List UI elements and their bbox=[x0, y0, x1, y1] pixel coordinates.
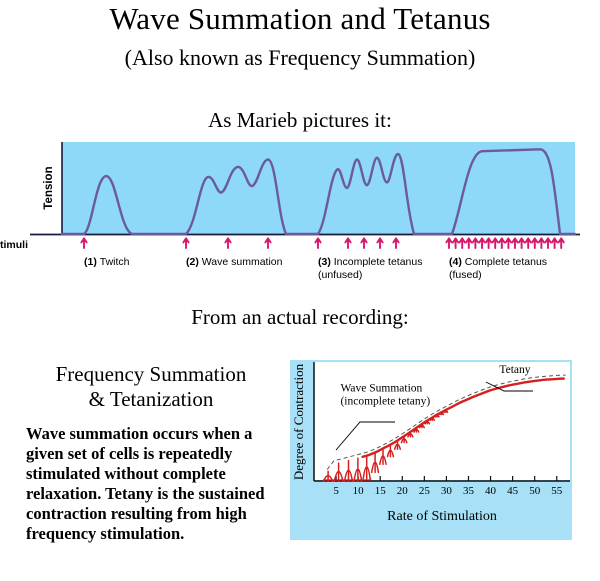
stimulus-arrow bbox=[526, 238, 531, 248]
frequency-summation-text-block: Frequency Summation & Tetanization Wave … bbox=[8, 362, 294, 544]
frequency-summation-title-line1: Frequency Summation bbox=[8, 362, 294, 387]
chart-y-axis-label: Degree of Contraction bbox=[291, 363, 306, 480]
marieb-panel-background bbox=[62, 142, 575, 234]
stimulus-arrow bbox=[393, 238, 398, 248]
marieb-phase-labels: (1) Twitch(2) Wave summation(3) Incomple… bbox=[84, 256, 547, 281]
stimulus-arrow bbox=[315, 238, 320, 248]
stimulus-arrow bbox=[512, 238, 517, 248]
x-tick-label: 55 bbox=[551, 485, 563, 497]
phase-label: (4) Complete tetanus bbox=[449, 256, 547, 268]
x-tick-label: 45 bbox=[507, 485, 519, 497]
marieb-y-axis-label: Tension bbox=[43, 166, 55, 209]
x-tick-label: 10 bbox=[353, 485, 365, 497]
stimulus-arrow bbox=[460, 238, 465, 248]
phase-label: (1) Twitch bbox=[84, 256, 130, 268]
stimulus-arrow bbox=[345, 238, 350, 248]
stimulus-arrow bbox=[552, 238, 557, 248]
annotation-tetany: Tetany bbox=[499, 364, 530, 376]
phase-sublabel: (fused) bbox=[449, 269, 482, 281]
stimulus-arrow bbox=[479, 238, 484, 248]
x-tick-label: 35 bbox=[463, 485, 475, 497]
x-tick-label: 5 bbox=[333, 485, 339, 497]
marieb-stimulus-arrows bbox=[81, 238, 563, 248]
stimulus-arrow bbox=[225, 238, 230, 248]
phase-label: (3) Incomplete tetanus bbox=[318, 256, 422, 268]
annotation-wave-summation: Wave Summation bbox=[340, 382, 422, 394]
stimulus-arrow bbox=[265, 238, 270, 248]
stimulus-arrow bbox=[446, 238, 451, 248]
stimulus-arrow bbox=[539, 238, 544, 248]
frequency-summation-title-line2: & Tetanization bbox=[8, 387, 294, 412]
section-heading-marieb: As Marieb pictures it: bbox=[0, 108, 600, 133]
stimulus-arrow bbox=[473, 238, 478, 248]
recording-chart: 510152025303540455055 Wave Summation(inc… bbox=[290, 360, 576, 542]
x-tick-label: 25 bbox=[419, 485, 431, 497]
page-subtitle: (Also known as Frequency Summation) bbox=[0, 46, 600, 70]
frequency-summation-body: Wave summation occurs when a given set o… bbox=[8, 424, 294, 545]
stimulus-arrow bbox=[493, 238, 498, 248]
chart-plot-area bbox=[314, 362, 570, 480]
stimulus-arrow bbox=[377, 238, 382, 248]
stimulus-arrow bbox=[506, 238, 511, 248]
slide: Wave Summation and Tetanus (Also known a… bbox=[0, 0, 600, 581]
stimulus-arrow bbox=[486, 238, 491, 248]
phase-sublabel: (unfused) bbox=[318, 269, 362, 281]
x-tick-label: 40 bbox=[485, 485, 497, 497]
stimulus-arrow bbox=[361, 238, 366, 248]
x-tick-label: 50 bbox=[529, 485, 541, 497]
chart-x-axis-label: Rate of Stimulation bbox=[387, 509, 497, 524]
stimulus-arrow bbox=[559, 238, 564, 248]
marieb-figure: Tension Stimuli (1) Twitch(2) Wave summa… bbox=[0, 140, 600, 295]
stimulus-arrow bbox=[532, 238, 537, 248]
annotation-wave-summation-sub: (incomplete tetany) bbox=[340, 395, 430, 407]
stimulus-arrow bbox=[545, 238, 550, 248]
stimulus-arrow bbox=[81, 238, 86, 248]
frequency-summation-title: Frequency Summation & Tetanization bbox=[8, 362, 294, 412]
page-title: Wave Summation and Tetanus bbox=[0, 2, 600, 36]
x-tick-label: 15 bbox=[375, 485, 387, 497]
stimulus-arrow bbox=[519, 238, 524, 248]
stimulus-arrow bbox=[499, 238, 504, 248]
x-tick-label: 20 bbox=[397, 485, 409, 497]
stimuli-label: Stimuli bbox=[0, 239, 28, 251]
section-heading-recording: From an actual recording: bbox=[0, 305, 600, 330]
phase-label: (2) Wave summation bbox=[186, 256, 283, 268]
stimulus-arrow bbox=[453, 238, 458, 248]
x-tick-label: 30 bbox=[441, 485, 453, 497]
stimulus-arrow bbox=[183, 238, 188, 248]
stimulus-arrow bbox=[466, 238, 471, 248]
